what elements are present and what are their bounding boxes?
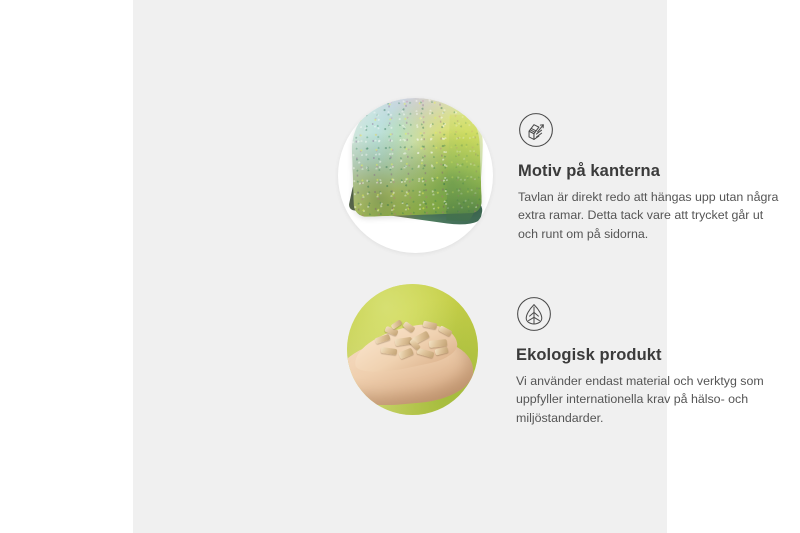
- content-panel: Motiv på kanterna Tavlan är direkt redo …: [133, 0, 667, 533]
- feature-text-column: Ekologisk produkt Vi använder endast mat…: [516, 284, 786, 427]
- hands-with-wood-chips-illustration: [347, 284, 478, 415]
- canvas-corner-photo: [338, 98, 493, 253]
- canvas-print-illustration: [352, 98, 493, 243]
- leaf-icon: [516, 296, 552, 332]
- feature-body: Vi använder endast material och verktyg …: [516, 372, 778, 427]
- wood-chips-pile: [373, 320, 461, 364]
- product-info-graphic: Motiv på kanterna Tavlan är direkt redo …: [0, 0, 800, 533]
- feature-text-column: Motiv på kanterna Tavlan är direkt redo …: [518, 98, 788, 243]
- feature-title: Motiv på kanterna: [518, 162, 788, 182]
- feature-row-eco-product: Ekologisk produkt Vi använder endast mat…: [347, 284, 786, 427]
- feature-body: Tavlan är direkt redo att hängas upp uta…: [518, 188, 780, 243]
- wood-chips-in-hands-photo: [347, 284, 478, 415]
- feature-title: Ekologisk produkt: [516, 346, 786, 366]
- feature-row-canvas-edges: Motiv på kanterna Tavlan är direkt redo …: [338, 98, 788, 253]
- wrapped-canvas-edge-icon: [518, 112, 554, 148]
